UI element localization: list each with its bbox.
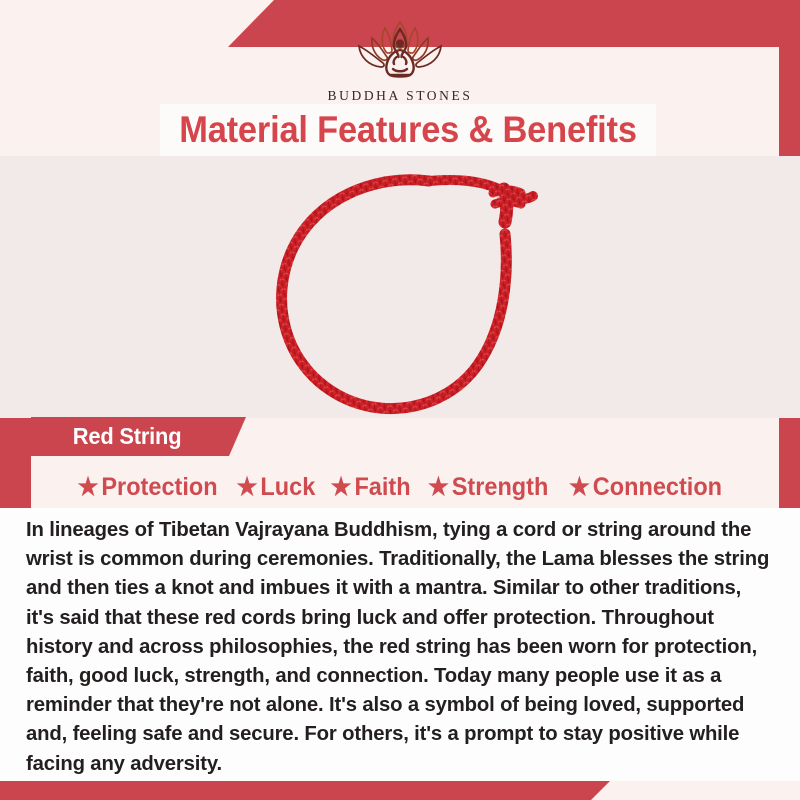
- benefit-label: Strength: [452, 473, 549, 502]
- benefit-item-faith: ★ Faith: [331, 473, 411, 502]
- benefit-item-connection: ★ Connection: [569, 473, 722, 502]
- benefit-item-strength: ★ Strength: [428, 473, 549, 502]
- material-label: Red String: [31, 423, 181, 450]
- lotus-meditation-icon: [340, 14, 460, 86]
- description-panel: In lineages of Tibetan Vajrayana Buddhis…: [0, 508, 800, 781]
- benefit-item-luck: ★ Luck: [236, 473, 315, 502]
- benefit-label: Protection: [102, 473, 218, 502]
- red-string-bracelet-image: [255, 156, 585, 418]
- benefit-label: Faith: [355, 473, 411, 502]
- star-icon: ★: [236, 475, 257, 500]
- star-icon: ★: [331, 475, 352, 500]
- benefit-label: Luck: [260, 473, 315, 502]
- infographic-page: BUDDHA STONES Material Features & Benefi…: [0, 0, 800, 800]
- bottom-red-accent-band: [0, 781, 610, 800]
- material-label-banner: Red String: [31, 417, 246, 456]
- star-icon: ★: [428, 475, 449, 500]
- brand-wordmark: BUDDHA STONES: [328, 88, 473, 104]
- star-icon: ★: [569, 475, 590, 500]
- benefits-row: ★ Protection ★ Luck ★ Faith ★ Strength ★…: [0, 466, 800, 508]
- page-title-banner: Material Features & Benefits: [160, 104, 656, 156]
- star-icon: ★: [78, 475, 99, 500]
- page-title: Material Features & Benefits: [179, 109, 637, 151]
- product-image-area: [0, 156, 800, 418]
- brand-logo: BUDDHA STONES: [0, 14, 800, 104]
- benefit-item-protection: ★ Protection: [78, 473, 218, 502]
- description-text: In lineages of Tibetan Vajrayana Buddhis…: [26, 516, 772, 779]
- benefit-label: Connection: [592, 473, 721, 502]
